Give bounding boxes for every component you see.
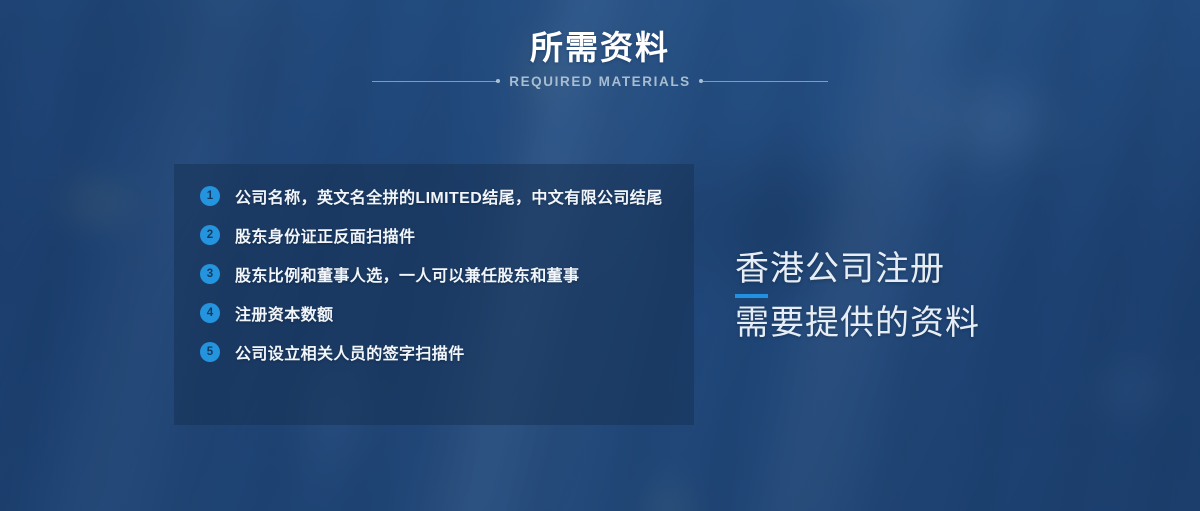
list-number-badge: 2 xyxy=(200,225,220,245)
divider-dot-left-icon xyxy=(496,79,500,83)
list-item-label: 股东身份证正反面扫描件 xyxy=(235,223,415,253)
list-item: 3 股东比例和董事人选，一人可以兼任股东和董事 xyxy=(200,262,670,292)
list-item-label: 注册资本数额 xyxy=(235,301,333,331)
list-item-label: 股东比例和董事人选，一人可以兼任股东和董事 xyxy=(235,262,579,292)
divider-line-left-icon xyxy=(372,81,497,82)
page-subtitle: REQUIRED MATERIALS xyxy=(0,73,1200,90)
divider-line-right-icon xyxy=(703,81,828,82)
list-item: 2 股东身份证正反面扫描件 xyxy=(200,223,670,253)
list-number-badge: 5 xyxy=(200,342,220,362)
list-item: 4 注册资本数额 xyxy=(200,301,670,331)
list-item-label: 公司名称，英文名全拼的LIMITED结尾，中文有限公司结尾 xyxy=(235,184,663,214)
list-item: 1 公司名称，英文名全拼的LIMITED结尾，中文有限公司结尾 xyxy=(200,184,670,214)
divider-dot-right-icon xyxy=(699,79,703,83)
list-item-label: 公司设立相关人员的签字扫描件 xyxy=(235,340,465,370)
page-title: 所需资料 xyxy=(0,29,1200,67)
materials-list: 1 公司名称，英文名全拼的LIMITED结尾，中文有限公司结尾 2 股东身份证正… xyxy=(200,184,670,370)
side-heading: 香港公司注册 需要提供的资料 xyxy=(735,247,1155,346)
materials-panel: 1 公司名称，英文名全拼的LIMITED结尾，中文有限公司结尾 2 股东身份证正… xyxy=(174,164,694,425)
side-heading-line-1: 香港公司注册 xyxy=(735,247,1155,292)
banner-header: 所需资料 REQUIRED MATERIALS xyxy=(0,0,1200,100)
list-number-badge: 3 xyxy=(200,264,220,284)
list-number-badge: 4 xyxy=(200,303,220,323)
required-materials-banner: 所需资料 REQUIRED MATERIALS 1 公司名称，英文名全拼的LIM… xyxy=(0,0,1200,511)
list-number-badge: 1 xyxy=(200,186,220,206)
side-heading-line-2: 需要提供的资料 xyxy=(735,301,1155,346)
accent-bar xyxy=(735,294,768,298)
list-item: 5 公司设立相关人员的签字扫描件 xyxy=(200,340,670,370)
